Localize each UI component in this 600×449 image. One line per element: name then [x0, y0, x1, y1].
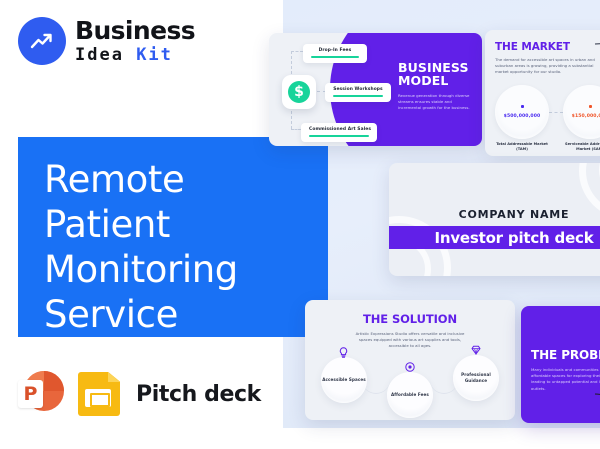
dollar-glyph: $	[288, 81, 310, 103]
lightbulb-icon	[339, 347, 348, 360]
target-icon	[405, 362, 415, 374]
slide-investor-pitch-deck[interactable]: COMPANY NAME Investor pitch deck	[389, 163, 600, 276]
solution-node: Accessible Spaces	[321, 357, 367, 403]
slide-title: THE SOLUTION	[305, 312, 515, 326]
powerpoint-letter: P	[18, 380, 43, 408]
slide-description: The demand for accessible art spaces in …	[495, 57, 596, 75]
brand-idea-text: Idea	[75, 45, 136, 65]
market-metric-label: Total Addressable Market (TAM)	[491, 142, 553, 152]
slide-the-market[interactable]: THE MARKET The demand for accessible art…	[485, 30, 600, 156]
market-metric-value: $500,000,000	[504, 114, 541, 119]
solution-node-label: Professional Guidance	[453, 372, 499, 383]
brand-line-1: Business	[75, 18, 195, 44]
connector-line	[291, 129, 301, 130]
format-badges: P Pitch deck	[18, 371, 261, 417]
market-metric: $150,000,000	[563, 85, 600, 139]
solution-node: Professional Guidance	[453, 355, 499, 401]
powerpoint-icon: P	[18, 371, 64, 417]
diamond-icon	[471, 345, 481, 357]
brand-kit-text: Kit	[136, 45, 173, 65]
dollar-sign-icon: $	[282, 75, 316, 109]
revenue-stream-label: Session Workshops	[333, 87, 383, 92]
deck-title: Investor pitch deck	[434, 229, 593, 247]
company-name: COMPANY NAME	[389, 208, 600, 221]
revenue-stream-label: Drop-In Fees	[311, 48, 359, 53]
market-metric-value: $150,000,000	[572, 114, 600, 119]
promo-banner: Business Idea Kit Remote Patient Monitor…	[0, 0, 600, 449]
trending-up-arrow-icon	[18, 17, 66, 65]
slide-the-problem[interactable]: THE PROBLEM Many individuals and communi…	[521, 306, 600, 423]
slide-description: Many individuals and communities lack ac…	[531, 367, 600, 392]
solution-node: Affordable Fees	[387, 372, 433, 418]
format-label: Pitch deck	[136, 382, 261, 407]
market-metric: $500,000,000	[495, 85, 549, 139]
connector-line	[549, 112, 563, 113]
revenue-stream-item: Session Workshops	[325, 83, 391, 102]
slide-title: THE MARKET	[495, 41, 570, 53]
slide-title: BUSINESS MODEL	[398, 61, 478, 87]
market-metric-label: Serviceable Addressable Market (SAM)	[559, 142, 600, 152]
slide-description: Artistic Expressions Studio offers versa…	[350, 331, 470, 349]
brand-wordmark: Business Idea Kit	[75, 16, 195, 66]
solution-node-label: Accessible Spaces	[322, 377, 366, 383]
brand-line-2: Idea Kit	[75, 45, 195, 66]
google-slides-icon	[78, 371, 122, 417]
revenue-stream-item: Commissioned Art Sales	[301, 123, 377, 142]
slide-the-solution[interactable]: THE SOLUTION Artistic Expressions Studio…	[305, 300, 515, 420]
curved-arrow-icon	[593, 392, 600, 423]
slide-title: THE PROBLEM	[531, 348, 600, 362]
solution-node-label: Affordable Fees	[391, 392, 429, 398]
revenue-stream-label: Commissioned Art Sales	[309, 127, 369, 132]
curved-arrow-icon	[593, 40, 600, 81]
slide-business-model[interactable]: $ Drop-In Fees Session Workshops Commiss…	[269, 33, 482, 146]
brand-logo: Business Idea Kit	[18, 16, 195, 66]
page-title: Remote Patient Monitoring Service	[44, 157, 320, 337]
connector-line	[291, 51, 303, 52]
slide-description: Revenue generation through diverse strea…	[398, 93, 476, 112]
deck-title-band: Investor pitch deck	[389, 226, 600, 249]
revenue-stream-item: Drop-In Fees	[303, 44, 367, 63]
hero-panel: Remote Patient Monitoring Service	[18, 137, 328, 337]
